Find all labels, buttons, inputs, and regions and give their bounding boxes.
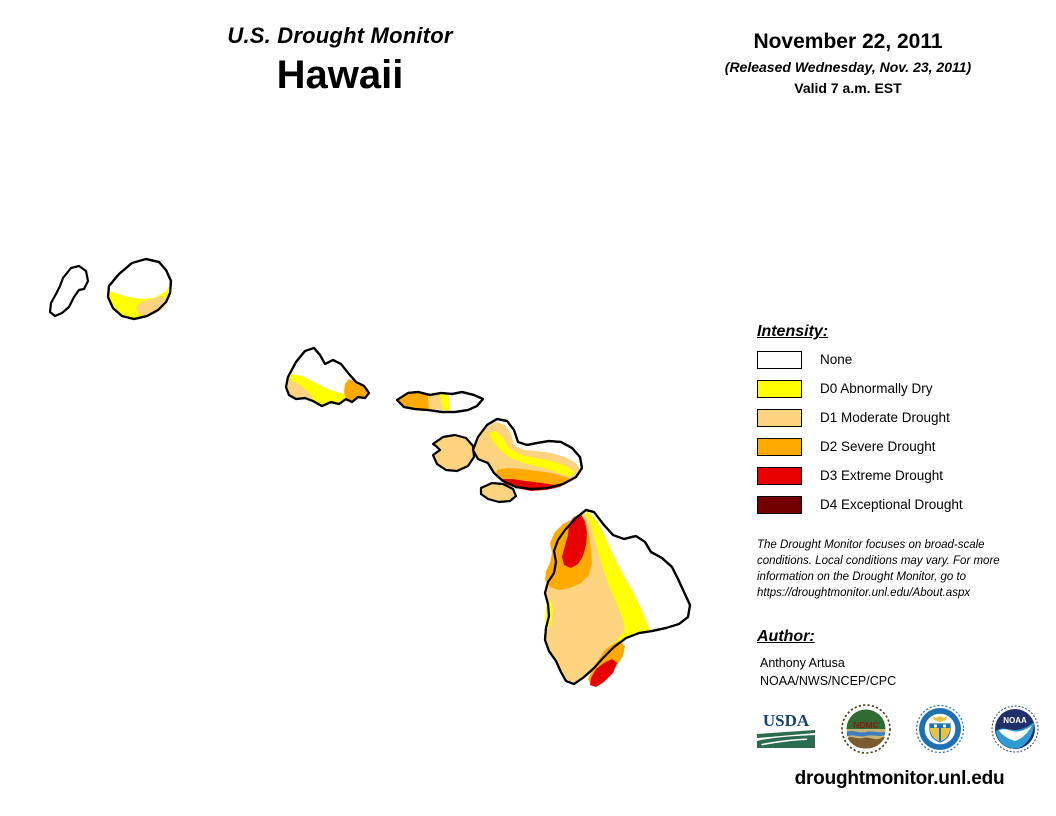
legend-swatch-d0 (757, 380, 802, 398)
title-block: U.S. Drought Monitor Hawaii (160, 24, 520, 98)
svg-text:NOAA: NOAA (1003, 716, 1027, 725)
svg-text:USDA: USDA (763, 711, 810, 730)
legend-row-none: None (757, 348, 1037, 371)
island-hawaii-big (545, 510, 690, 687)
site-url[interactable]: droughtmonitor.unl.edu (757, 768, 1042, 790)
legend-label-d0: D0 Abnormally Dry (820, 381, 933, 396)
legend-label-d2: D2 Severe Drought (820, 439, 936, 454)
valid-date: November 22, 2011 (678, 30, 1018, 54)
island-oahu (286, 348, 369, 406)
island-molokai (397, 392, 483, 412)
state-title: Hawaii (160, 52, 520, 98)
legend-row-d3: D3 Extreme Drought (757, 464, 1037, 487)
legend-swatch-d4 (757, 496, 802, 514)
legend-row-d0: D0 Abnormally Dry (757, 377, 1037, 400)
drought-monitor-map-page: U.S. Drought Monitor Hawaii November 22,… (0, 0, 1056, 816)
legend-panel: Intensity: NoneD0 Abnormally DryD1 Moder… (757, 323, 1037, 522)
legend-heading: Intensity: (757, 323, 1037, 341)
legend-label-none: None (820, 352, 852, 367)
logo-row: USDA NDMC (755, 702, 1040, 760)
ndmc-logo[interactable]: NDMC (841, 704, 891, 759)
legend-swatch-d1 (757, 409, 802, 427)
legend-swatch-none (757, 351, 802, 369)
legend-label-d4: D4 Exceptional Drought (820, 497, 963, 512)
author-name: Anthony Artusa (757, 654, 1037, 672)
legend-row-d1: D1 Moderate Drought (757, 406, 1037, 429)
release-date: (Released Wednesday, Nov. 23, 2011) (678, 59, 1018, 75)
valid-time: Valid 7 a.m. EST (678, 80, 1018, 96)
date-block: November 22, 2011 (Released Wednesday, N… (678, 30, 1018, 96)
svg-text:NDMC: NDMC (853, 720, 879, 730)
usda-logo[interactable]: USDA (755, 707, 817, 756)
legend-rows: NoneD0 Abnormally DryD1 Moderate Drought… (757, 348, 1037, 516)
page-title: U.S. Drought Monitor (160, 24, 520, 48)
noaa-logo[interactable]: NOAA (990, 704, 1040, 759)
island-niihau (50, 266, 88, 316)
disclaimer-text: The Drought Monitor focuses on broad-sca… (757, 538, 1019, 601)
author-block: Author: Anthony Artusa NOAA/NWS/NCEP/CPC (757, 628, 1037, 690)
island-maui (473, 419, 582, 491)
legend-row-d4: D4 Exceptional Drought (757, 493, 1037, 516)
author-heading: Author: (757, 628, 1037, 646)
author-affiliation: NOAA/NWS/NCEP/CPC (757, 672, 1037, 690)
hawaii-drought-map (0, 150, 740, 750)
unl-seal-logo[interactable] (914, 703, 966, 760)
legend-row-d2: D2 Severe Drought (757, 435, 1037, 458)
legend-swatch-d2 (757, 438, 802, 456)
legend-label-d1: D1 Moderate Drought (820, 410, 950, 425)
legend-swatch-d3 (757, 467, 802, 485)
island-kauai (108, 259, 171, 319)
legend-label-d3: D3 Extreme Drought (820, 468, 943, 483)
island-lanai (433, 435, 474, 471)
